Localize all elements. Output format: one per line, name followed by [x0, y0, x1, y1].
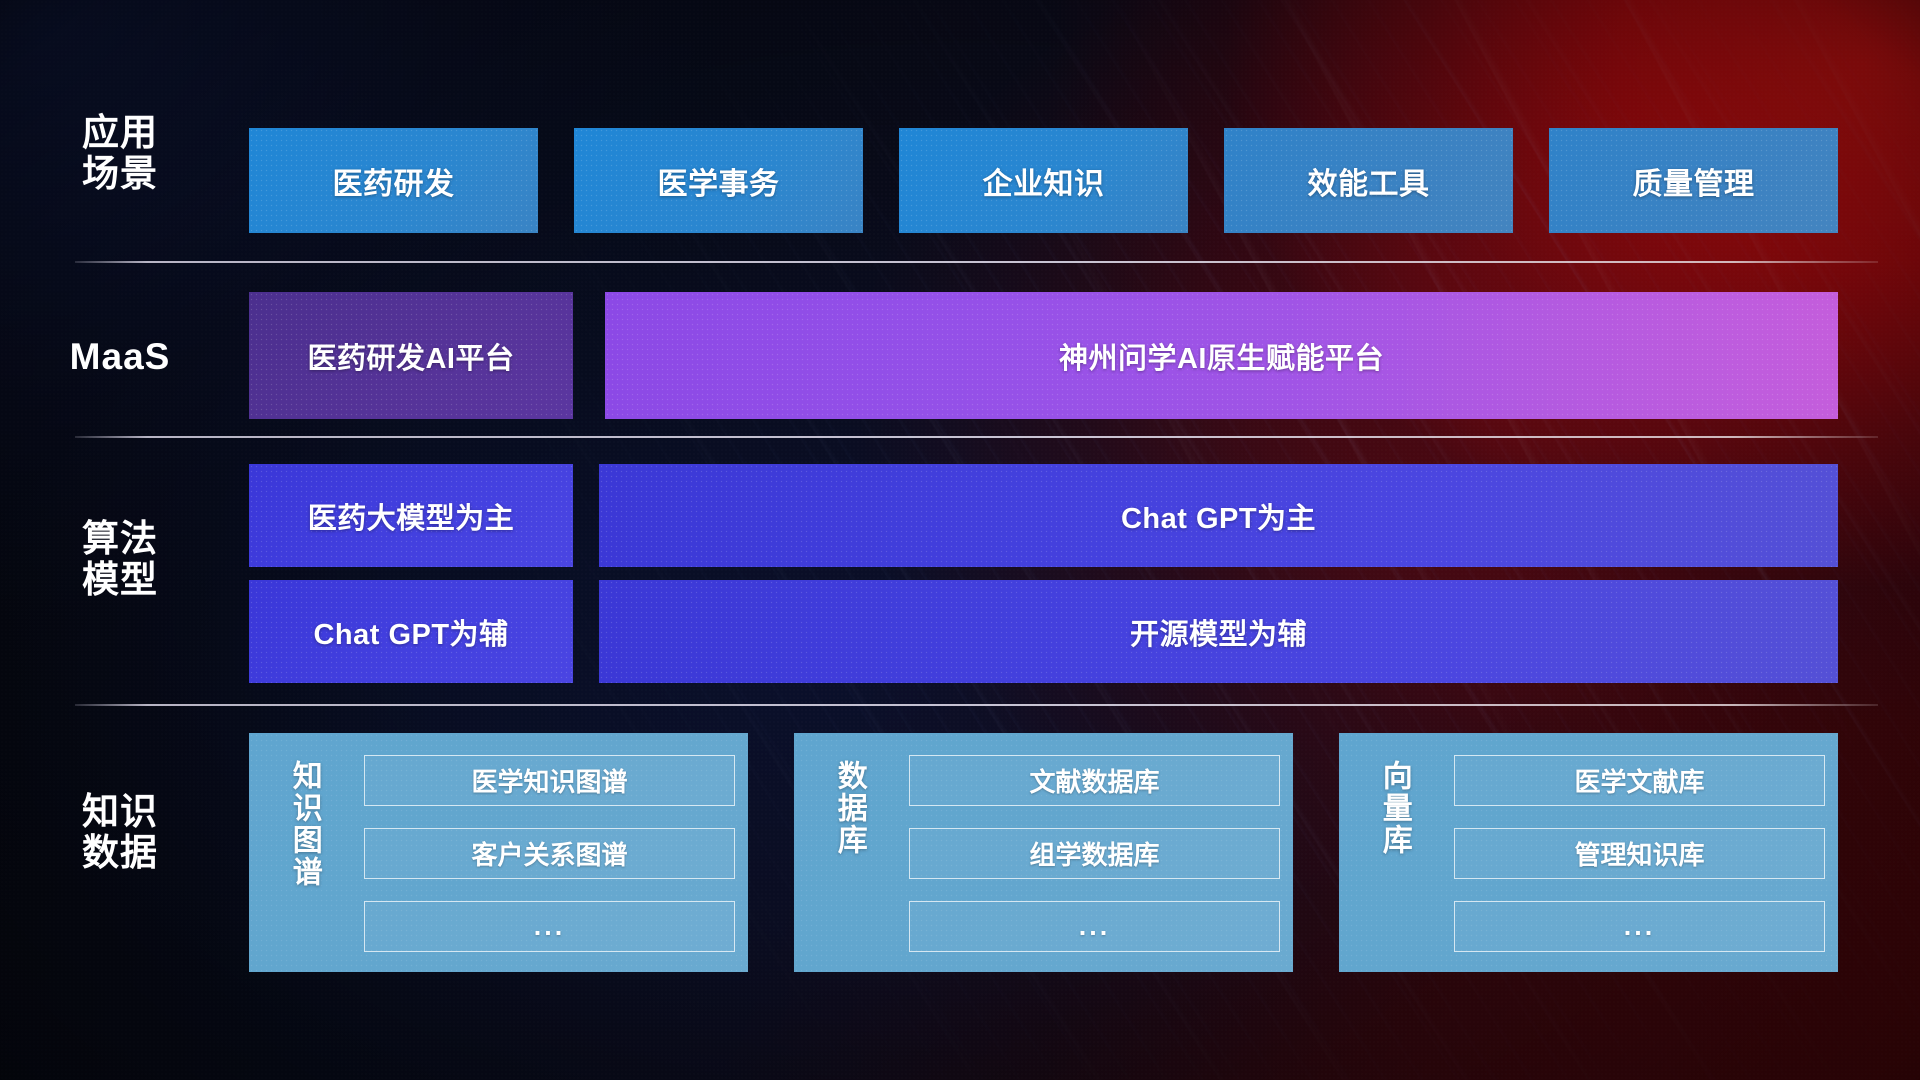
knowledge-category-vector: 向量库: [1378, 760, 1410, 856]
row-label-algorithm: 算法 模型: [52, 518, 188, 601]
algorithm-box-opensource-secondary[interactable]: 开源模型为辅: [599, 580, 1838, 683]
maas-box-shenzhou-wenxue-platform[interactable]: 神州问学AI原生赋能平台: [605, 292, 1838, 419]
application-box-4[interactable]: 效能工具: [1224, 128, 1513, 233]
algorithm-box-pharma-llm-primary[interactable]: 医药大模型为主: [249, 464, 573, 567]
knowledge-item-management-knowledge[interactable]: 管理知识库: [1454, 828, 1825, 879]
application-box-2[interactable]: 医学事务: [574, 128, 863, 233]
application-box-1[interactable]: 医药研发: [249, 128, 538, 233]
application-box-3[interactable]: 企业知识: [899, 128, 1188, 233]
knowledge-item-omics-db[interactable]: 组学数据库: [909, 828, 1280, 879]
algorithm-box-chatgpt-primary[interactable]: Chat GPT为主: [599, 464, 1838, 567]
knowledge-item-medical-graph[interactable]: 医学知识图谱: [364, 755, 735, 806]
row-label-maas: MaaS: [52, 336, 188, 377]
knowledge-item-medical-literature[interactable]: 医学文献库: [1454, 755, 1825, 806]
knowledge-item-customer-graph[interactable]: 客户关系图谱: [364, 828, 735, 879]
knowledge-category-graph: 知识图谱: [288, 760, 320, 888]
knowledge-item-literature-db[interactable]: 文献数据库: [909, 755, 1280, 806]
divider-algorithm-knowledge: [75, 704, 1878, 706]
divider-maas-algorithm: [75, 436, 1878, 438]
divider-application-maas: [75, 261, 1878, 263]
slide-canvas: 应用 场景 医药研发 医学事务 企业知识 效能工具 质量管理 MaaS 医药研发…: [0, 0, 1920, 1080]
knowledge-item-database-more[interactable]: ...: [909, 901, 1280, 952]
knowledge-item-vector-more[interactable]: ...: [1454, 901, 1825, 952]
row-label-application: 应用 场景: [52, 112, 188, 195]
knowledge-item-graph-more[interactable]: ...: [364, 901, 735, 952]
maas-box-pharma-ai-platform[interactable]: 医药研发AI平台: [249, 292, 573, 419]
application-box-5[interactable]: 质量管理: [1549, 128, 1838, 233]
algorithm-box-chatgpt-secondary[interactable]: Chat GPT为辅: [249, 580, 573, 683]
row-label-knowledge: 知识 数据: [52, 791, 188, 874]
knowledge-category-database: 数据库: [833, 760, 865, 856]
